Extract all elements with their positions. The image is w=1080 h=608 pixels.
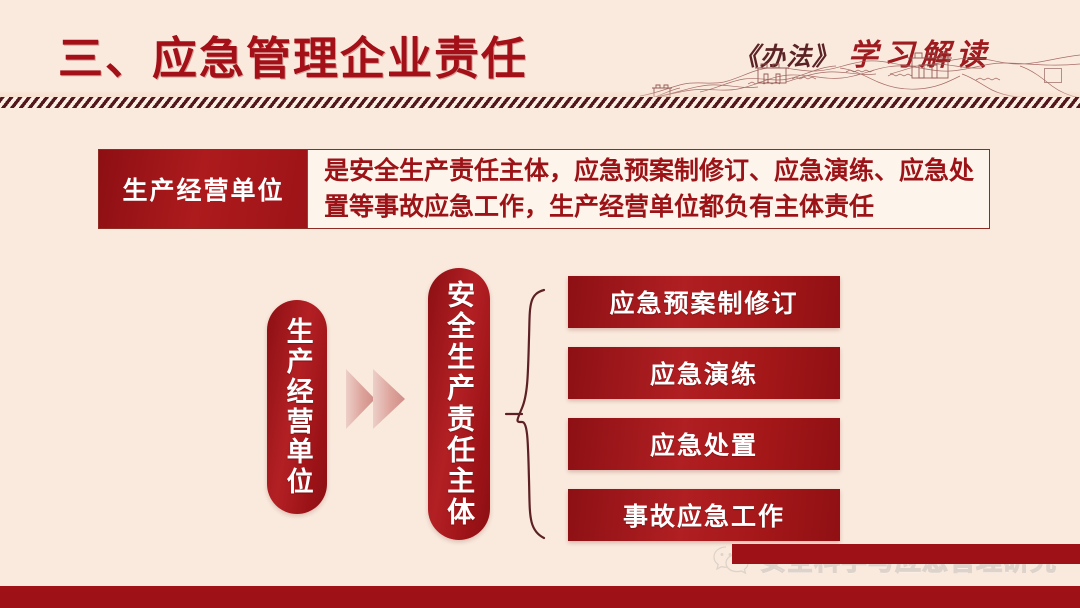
diagram-item-box: 事故应急工作 (568, 489, 840, 541)
diagram-target-pill-label: 安全生产责任主体 (444, 280, 474, 528)
slide-header: 三、应急管理企业责任 《办法》 学习解读 (0, 0, 1080, 98)
page-title: 三、应急管理企业责任 (58, 22, 528, 87)
statement-panel: 生产经营单位 是安全生产责任主体，应急预案制修订、应急演练、应急处置等事故应急工… (98, 149, 990, 229)
statement-label: 生产经营单位 (99, 150, 308, 228)
diagram-target-pill: 安全生产责任主体 (428, 268, 490, 540)
statement-body-text: 是安全生产责任主体，应急预案制修订、应急演练、应急处置等事故应急工作，生产经营单… (308, 150, 989, 228)
curly-brace-icon (500, 286, 552, 542)
diagram-item-box: 应急演练 (568, 347, 840, 399)
diagram-source-pill-label: 生产经营单位 (282, 317, 311, 497)
footer-bar (0, 586, 1080, 608)
double-chevron-right-icon (345, 363, 409, 435)
diagram-item-box: 应急处置 (568, 418, 840, 470)
slide-canvas: 三、应急管理企业责任 《办法》 学习解读 (0, 0, 1080, 608)
diagram-item-label: 应急演练 (650, 355, 758, 391)
diagram-item-label: 应急预案制修订 (609, 284, 798, 320)
diagram-item-box: 应急预案制修订 (568, 276, 840, 328)
diagonal-hatch-divider (0, 97, 1080, 108)
diagram-item-label: 事故应急工作 (623, 497, 785, 533)
divider-shadow (0, 90, 1080, 97)
footer-accent-bar (732, 544, 1080, 564)
diagram-item-label: 应急处置 (650, 426, 758, 462)
diagram-source-pill: 生产经营单位 (267, 300, 327, 514)
seal-stamp-icon (1044, 68, 1062, 83)
